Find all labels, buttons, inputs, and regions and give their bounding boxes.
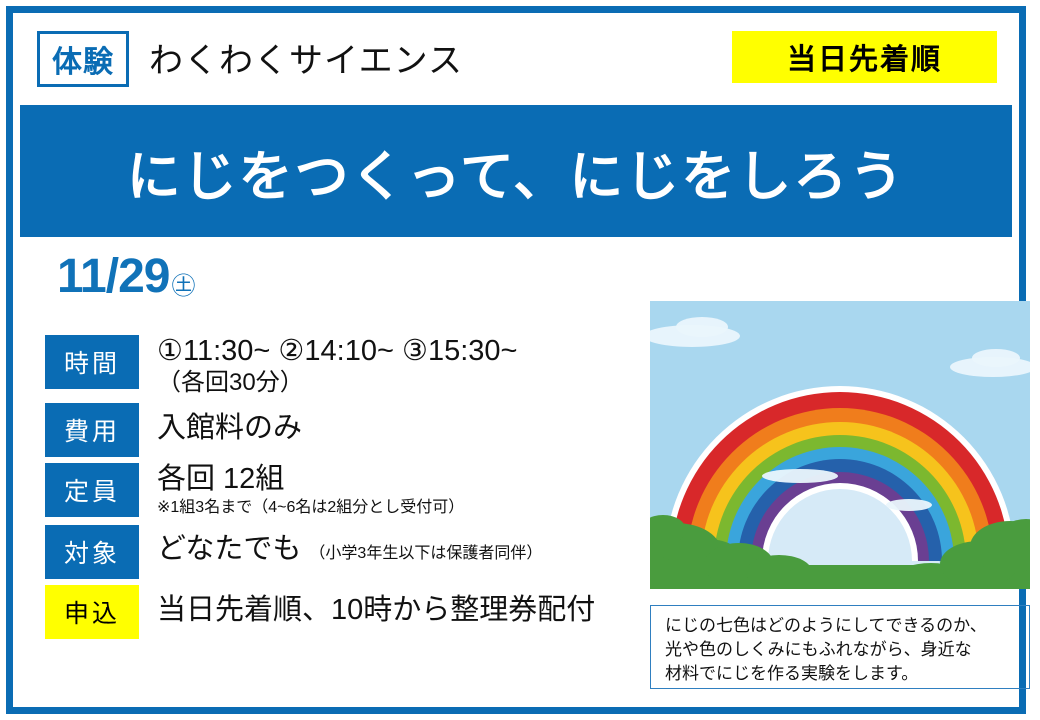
event-weekday-badge: ㊏ <box>171 275 195 299</box>
rainbow-arc <box>665 386 1015 561</box>
table-row: 定員 各回 12組 ※1組3名まで（4~6名は2組分とし受付可） <box>45 463 641 518</box>
row-label-capacity: 定員 <box>45 463 139 517</box>
description-box: にじの七色はどのようにしてできるのか、 光や色のしくみにもふれながら、身近な 材… <box>650 605 1030 689</box>
bush-shape <box>782 565 854 589</box>
main-title-band: にじをつくって、にじをしろう <box>20 105 1012 237</box>
row-value-capacity: 各回 12組 ※1組3名まで（4~6名は2組分とし受付可） <box>139 463 464 518</box>
experience-badge: 体験 <box>37 31 129 87</box>
page-title: にじをつくって、にじをしろう <box>127 132 906 211</box>
table-row: 対象 どなたでも （小学3年生以下は保護者同伴） <box>45 525 641 579</box>
row-value-time: ①11:30~ ②14:10~ ③15:30~ （各回30分） <box>139 335 517 397</box>
series-title: わくわくサイエンス <box>149 33 463 82</box>
cloud-icon <box>886 499 932 511</box>
cloud-icon <box>972 349 1020 367</box>
description-line: 光や色のしくみにもふれながら、身近な <box>665 638 1019 662</box>
rainbow-illustration <box>650 301 1030 589</box>
table-row: 時間 ①11:30~ ②14:10~ ③15:30~ （各回30分） <box>45 335 641 397</box>
description-line: 材料でにじを作る実験をします。 <box>665 662 1019 686</box>
row-value-application: 当日先着順、10時から整理券配付 <box>139 585 595 628</box>
cloud-icon <box>676 317 728 337</box>
row-label-application: 申込 <box>45 585 139 639</box>
application-value: 当日先着順、10時から整理券配付 <box>157 594 595 628</box>
row-value-target: どなたでも （小学3年生以下は保護者同伴） <box>139 525 542 567</box>
time-slots: ①11:30~ ②14:10~ ③15:30~ <box>157 335 517 369</box>
table-row: 申込 当日先着順、10時から整理券配付 <box>45 585 641 639</box>
poster-frame: 体験 わくわくサイエンス 当日先着順 にじをつくって、にじをしろう 11/29 … <box>6 6 1026 714</box>
event-date: 11/29 ㊏ <box>57 253 195 301</box>
poster-header: 体験 わくわくサイエンス 当日先着順 <box>13 13 1019 101</box>
row-label-target: 対象 <box>45 525 139 579</box>
capacity-value: 各回 12組 <box>157 463 464 497</box>
row-label-fee: 費用 <box>45 403 139 457</box>
event-info-table: 時間 ①11:30~ ②14:10~ ③15:30~ （各回30分） 費用 入館… <box>45 335 641 645</box>
first-come-badge: 当日先着順 <box>732 31 997 83</box>
time-duration: （各回30分） <box>157 369 517 398</box>
target-note: （小学3年生以下は保護者同伴） <box>309 539 542 563</box>
event-date-value: 11/29 <box>57 253 169 301</box>
description-line: にじの七色はどのようにしてできるのか、 <box>665 614 1019 638</box>
fee-value: 入館料のみ <box>157 412 302 446</box>
row-value-fee: 入館料のみ <box>139 403 302 446</box>
target-value: どなたでも <box>157 533 301 567</box>
cloud-icon <box>762 469 838 483</box>
row-label-time: 時間 <box>45 335 139 389</box>
table-row: 費用 入館料のみ <box>45 403 641 457</box>
capacity-note: ※1組3名まで（4~6名は2組分とし受付可） <box>157 497 464 519</box>
